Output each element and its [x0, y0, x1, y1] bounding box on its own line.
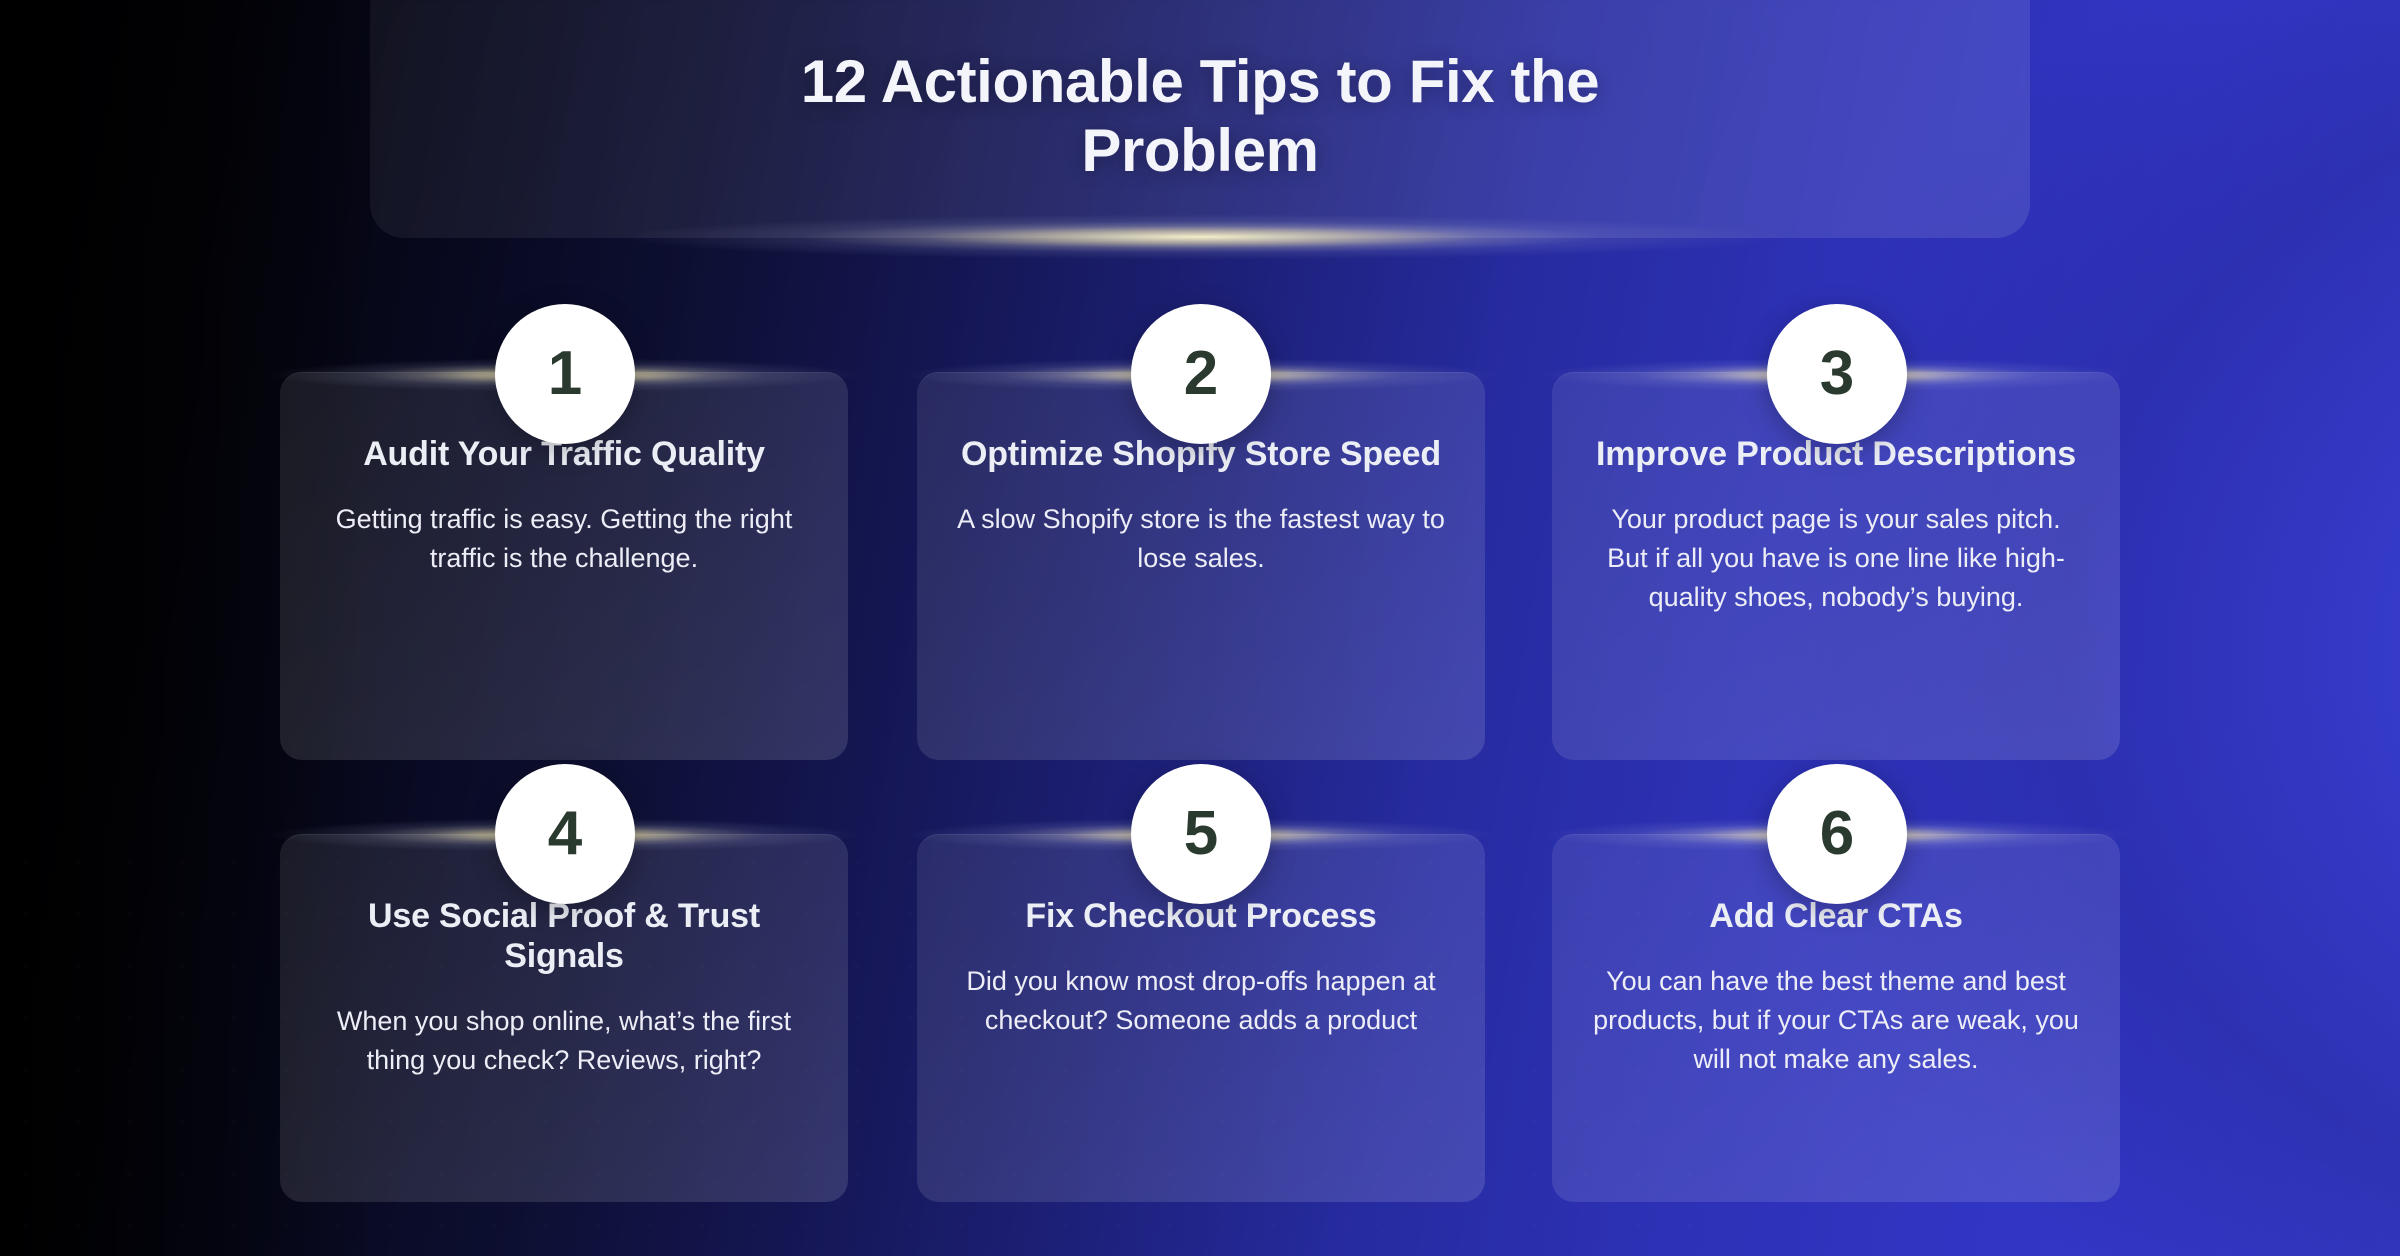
tip-card-title: Use Social Proof & Trust Signals	[320, 896, 808, 976]
tip-number: 4	[548, 803, 582, 865]
tip-card-body: Your product page is your sales pitch. B…	[1592, 500, 2080, 617]
tip-number-badge-5: 5	[1131, 764, 1271, 904]
tip-number-badge-6: 6	[1767, 764, 1907, 904]
tip-number: 5	[1184, 803, 1218, 865]
tip-number: 3	[1820, 343, 1854, 405]
tip-card-body: When you shop online, what’s the first t…	[320, 1002, 808, 1080]
tip-number: 2	[1184, 343, 1218, 405]
infographic-canvas: 12 Actionable Tips to Fix the Problem Au…	[0, 0, 2400, 1256]
tip-card-body: Getting traffic is easy. Getting the rig…	[320, 500, 808, 578]
tip-number: 1	[548, 343, 582, 405]
tip-number-badge-2: 2	[1131, 304, 1271, 444]
tip-number-badge-4: 4	[495, 764, 635, 904]
tip-number: 6	[1820, 803, 1854, 865]
tip-card-body: A slow Shopify store is the fastest way …	[957, 500, 1445, 578]
tip-number-badge-3: 3	[1767, 304, 1907, 444]
tip-card-body: You can have the best theme and best pro…	[1592, 962, 2080, 1079]
title-banner: 12 Actionable Tips to Fix the Problem	[370, 0, 2030, 238]
page-title: 12 Actionable Tips to Fix the Problem	[700, 47, 1700, 186]
tip-card-body: Did you know most drop-offs happen at ch…	[957, 962, 1445, 1040]
tip-number-badge-1: 1	[495, 304, 635, 444]
